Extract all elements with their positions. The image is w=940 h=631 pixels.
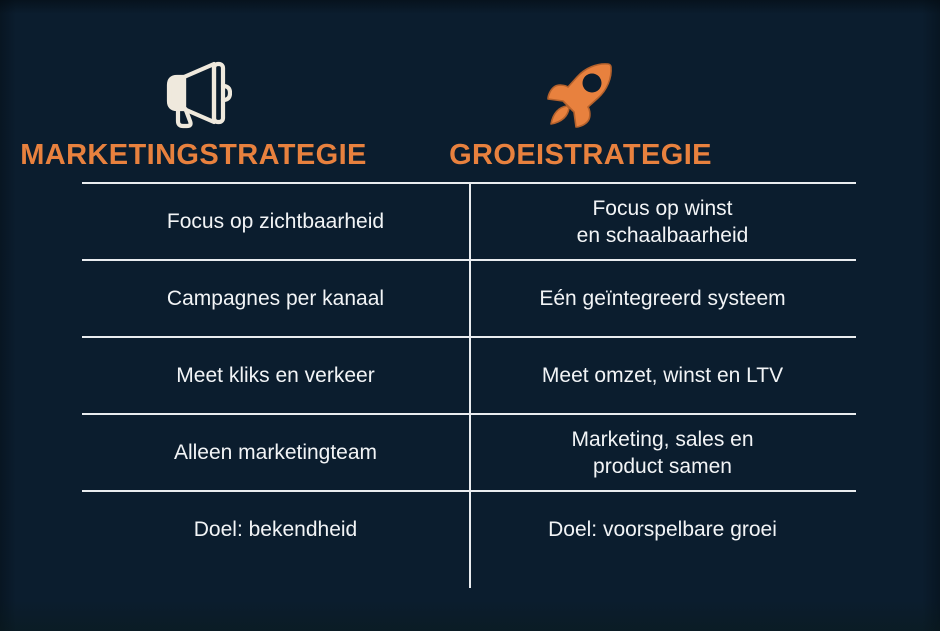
table-cell-left: Focus op zichtbaarheid (82, 184, 469, 261)
table-cell-left: Campagnes per kanaal (82, 261, 469, 338)
cell-text-line: Alleen marketingteam (174, 440, 377, 467)
cell-text-line: product samen (571, 454, 753, 481)
cell-text-line: en schaalbaarheid (577, 223, 749, 250)
comparison-table-graphic: MARKETINGSTRATEGIE GROEISTRATEGIE Focus … (0, 0, 940, 631)
table-cell-right: Eén geïntegreerd systeem (469, 261, 856, 338)
cell-text-line: Eén geïntegreerd systeem (539, 286, 785, 313)
cell-text-line: Focus op zichtbaarheid (167, 209, 384, 236)
table-cell-right: Meet omzet, winst en LTV (469, 338, 856, 415)
table-cell-left: Alleen marketingteam (82, 415, 469, 492)
table-cell-left: Meet kliks en verkeer (82, 338, 469, 415)
table-cell-right: Focus op winsten schaalbaarheid (469, 184, 856, 261)
cell-text-line: Meet kliks en verkeer (176, 363, 374, 390)
cell-text-line: Focus op winst (577, 196, 749, 223)
cell-text-line: Campagnes per kanaal (167, 286, 384, 313)
table-cell-right: Doel: voorspelbare groei (469, 492, 856, 569)
cell-text-line: Doel: bekendheid (194, 517, 357, 544)
cell-text-line: Meet omzet, winst en LTV (542, 363, 783, 390)
cell-text-line: Doel: voorspelbare groei (548, 517, 777, 544)
comparison-table: Focus op zichtbaarheidFocus op winsten s… (82, 0, 856, 631)
cell-text-line: Marketing, sales en (571, 427, 753, 454)
table-cell-right: Marketing, sales enproduct samen (469, 415, 856, 492)
table-cell-left: Doel: bekendheid (82, 492, 469, 569)
column-divider (469, 184, 471, 588)
